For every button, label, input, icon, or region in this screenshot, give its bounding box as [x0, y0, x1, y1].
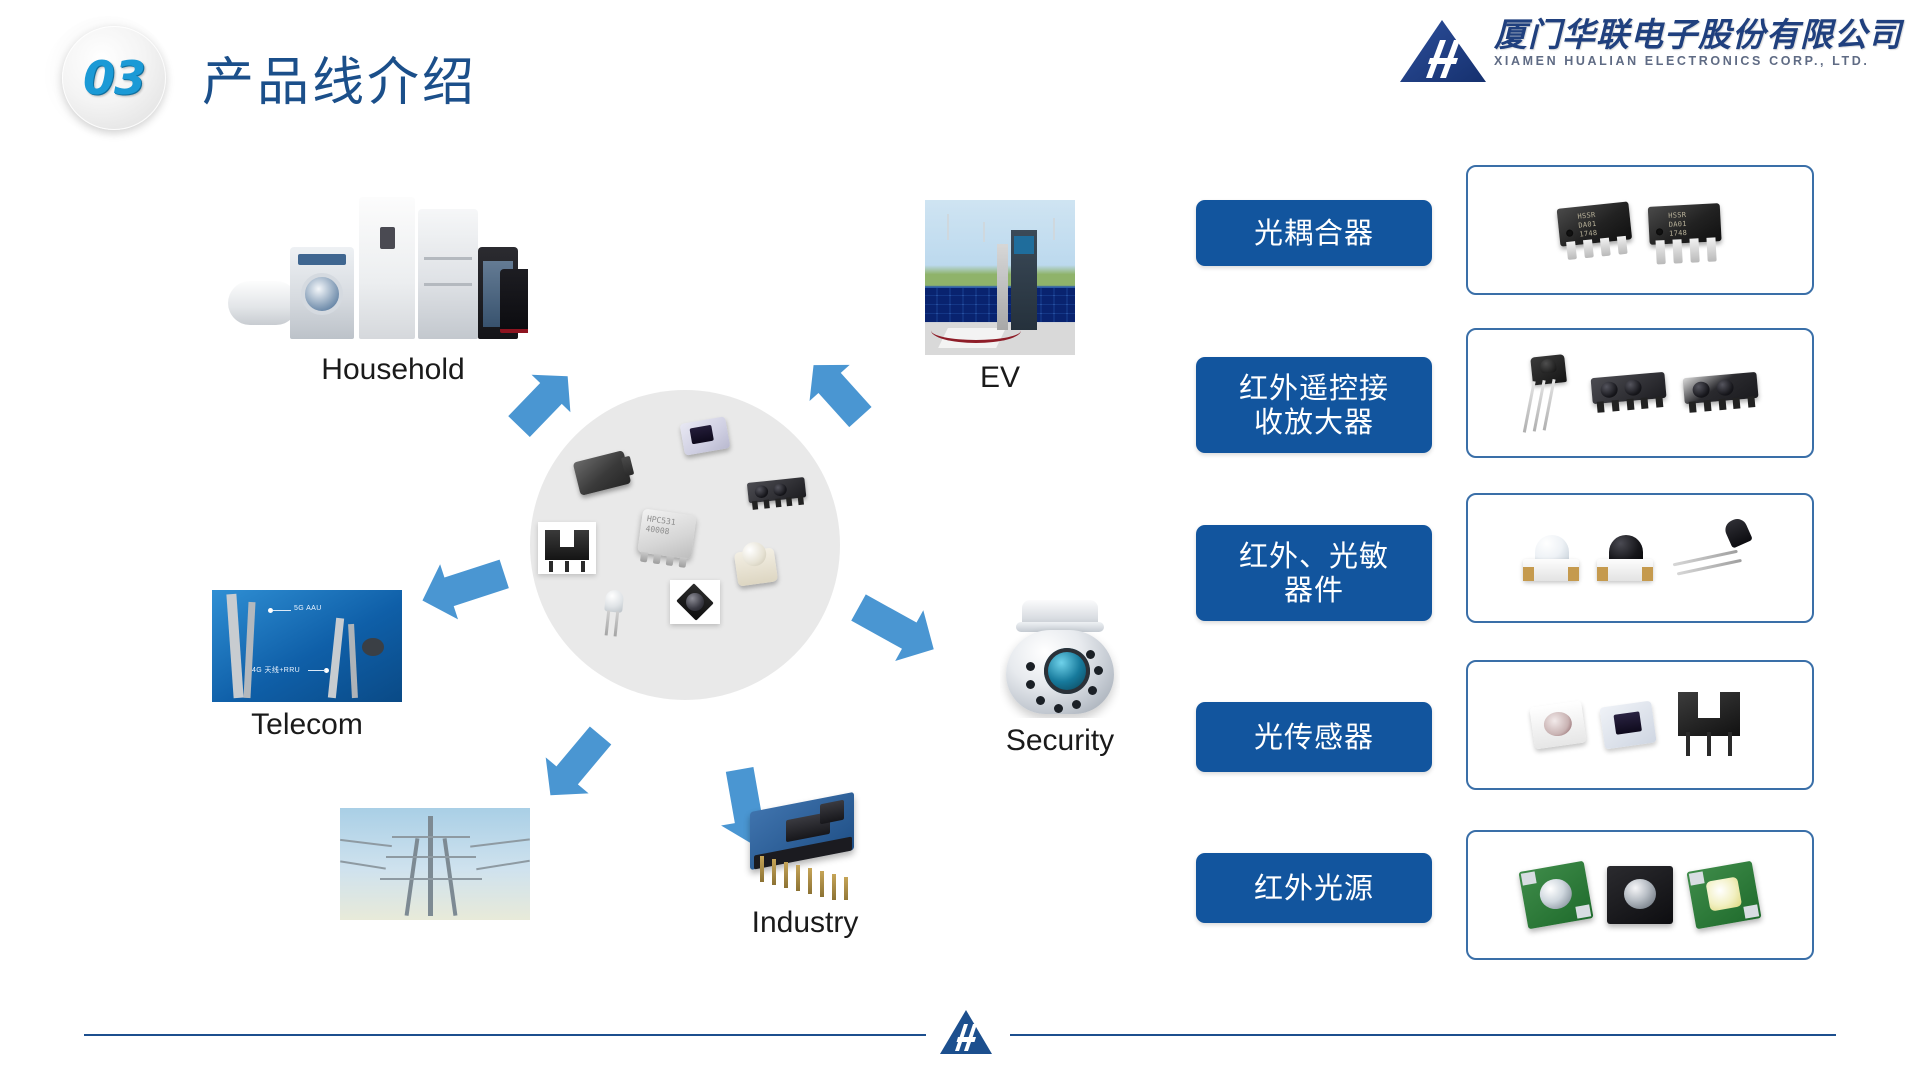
section-number-badge: 03	[62, 26, 166, 130]
telecom-caption-4g: 4G 天线+RRU	[252, 665, 300, 675]
part-smd-dip8-optocoupler: HSSRDA011748	[1557, 201, 1634, 258]
part-green-substrate-ir-led	[1518, 861, 1593, 930]
hub-component-dip-optocoupler: HPC531 40008	[640, 512, 694, 556]
industrial-module-photo	[740, 790, 870, 900]
part-white-smd-sensor	[1529, 701, 1586, 750]
part-smd-ir-receiver-silver	[1683, 372, 1760, 414]
hub-component-clear-smd-sensor	[682, 420, 728, 452]
application-label-telecom: Telecom	[182, 708, 432, 742]
slide-root: 03 产品线介绍 厦门华联电子股份有限公司 XIAMEN HUALIAN ELE…	[0, 0, 1920, 1080]
product-gallery-ir-receiver[interactable]	[1466, 328, 1814, 458]
company-logo: 厦门华联电子股份有限公司 XIAMEN HUALIAN ELECTRONICS …	[1396, 18, 1902, 94]
arrow-to-power	[520, 700, 640, 820]
part-to-package-ir-receiver	[1518, 353, 1577, 432]
product-gallery-optical-sensor[interactable]	[1466, 660, 1814, 790]
category-label-ir-receiver[interactable]: 红外遥控接 收放大器	[1196, 357, 1432, 453]
application-household: Household	[228, 172, 558, 387]
part-through-hole-dip8-optocoupler: HSSRDA011748	[1648, 203, 1723, 257]
application-label-ev: EV	[895, 361, 1105, 395]
dip-marking-line2: 40008	[645, 524, 670, 536]
product-gallery-ir-light-source[interactable]	[1466, 830, 1814, 960]
ev-charging-station-photo	[925, 200, 1075, 355]
page-title: 产品线介绍	[202, 40, 477, 115]
category-label-ir-light-source[interactable]: 红外光源	[1196, 853, 1432, 923]
category-label-ir-photosensitive[interactable]: 红外、光敏 器件	[1196, 525, 1432, 621]
section-number: 03	[83, 51, 145, 105]
footer-hl-logo-icon	[938, 1008, 994, 1056]
application-security: Security	[945, 600, 1175, 758]
part-black-substrate-ir-led	[1607, 866, 1673, 924]
company-name-cn: 厦门华联电子股份有限公司	[1494, 18, 1902, 52]
application-label-household: Household	[228, 353, 558, 387]
footer-rule-left	[84, 1034, 926, 1036]
hub-component-slotted-interrupter	[538, 522, 596, 574]
application-ev: EV	[895, 200, 1105, 395]
application-power-grid	[320, 808, 550, 920]
arrow-to-ev	[780, 345, 910, 455]
hl-logo-icon	[1396, 18, 1488, 84]
application-label-security: Security	[945, 724, 1175, 758]
product-gallery-optocoupler[interactable]: HSSRDA011748 HSSRDA011748	[1466, 165, 1814, 295]
part-smd-ir-receiver-black	[1591, 372, 1668, 414]
part-clear-dome-smd-led	[1523, 535, 1579, 581]
telecom-caption-5g: 5G AAU	[294, 605, 322, 612]
telecom-tower-photo: 5G AAU 4G 天线+RRU	[212, 590, 402, 702]
application-label-industry: Industry	[690, 906, 920, 940]
company-name-en: XIAMEN HUALIAN ELECTRONICS CORP., LTD.	[1494, 54, 1902, 68]
category-label-optocoupler[interactable]: 光耦合器	[1196, 200, 1432, 266]
part-clear-smd-sensor	[1599, 701, 1656, 750]
part-white-phosphor-led	[1686, 861, 1761, 930]
product-hub-circle: HPC531 40008	[530, 390, 840, 700]
hub-component-ir-receiver-module	[740, 476, 814, 512]
part-slotted-optical-interrupter	[1672, 692, 1748, 758]
application-telecom: 5G AAU 4G 天线+RRU Telecom	[182, 590, 432, 742]
hub-component-through-hole-led	[602, 590, 624, 636]
application-industry: Industry	[690, 790, 920, 940]
part-black-dome-smd-photodiode	[1597, 535, 1653, 581]
product-gallery-ir-photosensitive[interactable]	[1466, 493, 1814, 623]
hub-component-high-power-ir-led	[670, 580, 720, 624]
hub-component-smd-optocoupler	[576, 456, 628, 490]
footer-rule-right	[1010, 1034, 1836, 1036]
part-through-hole-ir-led	[1664, 516, 1765, 600]
category-label-optical-sensor[interactable]: 光传感器	[1196, 702, 1432, 772]
hub-component-dome-photo-sensor	[736, 550, 776, 584]
power-transmission-tower-photo	[340, 808, 530, 920]
ptz-dome-camera-photo	[1000, 600, 1120, 718]
home-appliances-photo	[228, 172, 528, 347]
arrow-to-security	[820, 570, 960, 680]
